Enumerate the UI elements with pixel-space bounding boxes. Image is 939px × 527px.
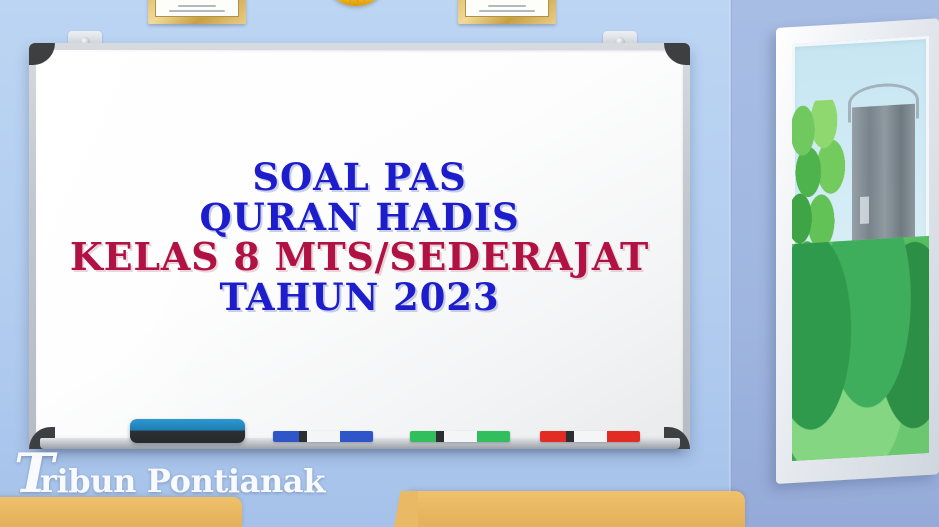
certificate-paper [471,0,543,12]
board-line-3: KELAS 8 MTS/SEDERAJAT [36,237,683,278]
gold-ornament-icon [326,0,386,14]
green-marker[interactable] [410,431,510,442]
wall-corner-seam [729,0,732,527]
watermark-text: ribun Pontianak [40,462,325,500]
red-marker[interactable] [540,431,640,442]
certificate-paper [161,0,233,12]
student-desk-right [400,491,745,527]
green-bushes [792,236,929,461]
watermark-tribun-pontianak: T ribun Pontianak [14,452,325,500]
blue-marker[interactable] [273,431,373,442]
whiteboard-eraser[interactable] [130,419,245,443]
certificate-frame-right [458,0,556,24]
classroom-scene: SOAL PAS QURAN HADIS KELAS 8 MTS/SEDERAJ… [0,0,939,527]
classroom-window [776,18,939,484]
board-announcement: SOAL PAS QURAN HADIS KELAS 8 MTS/SEDERAJ… [36,158,683,317]
board-line-4: TAHUN 2023 [36,278,683,318]
whiteboard[interactable]: SOAL PAS QURAN HADIS KELAS 8 MTS/SEDERAJ… [29,43,690,449]
whiteboard-surface[interactable]: SOAL PAS QURAN HADIS KELAS 8 MTS/SEDERAJ… [36,50,683,442]
board-line-1: SOAL PAS [36,158,683,198]
board-line-2: QURAN HADIS [36,198,683,238]
certificate-frame-left [148,0,246,24]
window-pane [792,36,929,461]
